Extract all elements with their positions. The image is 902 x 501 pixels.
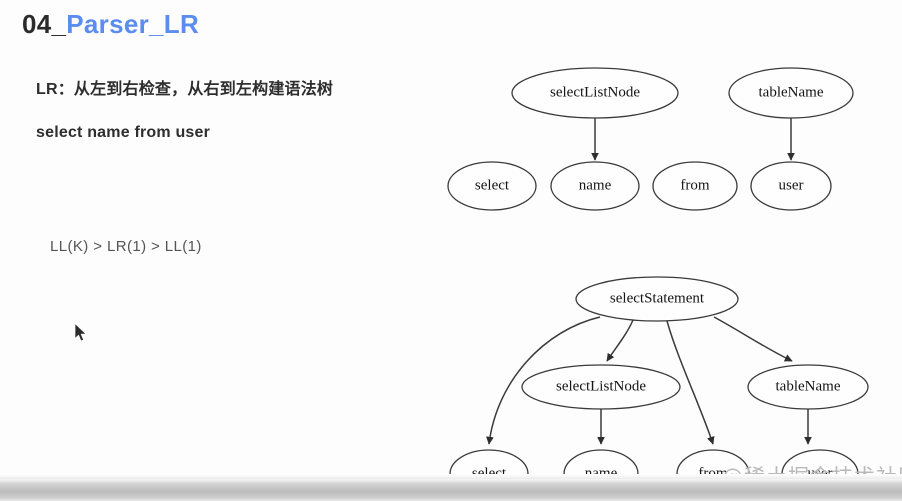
node-label: tableName xyxy=(776,378,841,394)
node-tablename-bottom: tableName xyxy=(748,365,868,409)
node-label: selectListNode xyxy=(556,378,646,394)
edge-selectstatement-tablename xyxy=(714,317,792,361)
mouse-cursor-icon xyxy=(74,323,88,343)
parse-tree-bottom: selectStatement selectListNode tableName… xyxy=(0,0,902,501)
slide-canvas: 04_Parser_LR LR：从左到右检查，从右到左构建语法树 select … xyxy=(0,0,902,501)
edge-selectstatement-selectlistnode xyxy=(607,320,633,361)
node-label: selectStatement xyxy=(610,290,705,306)
node-selectstatement: selectStatement xyxy=(576,277,738,321)
node-selectlistnode-bottom: selectListNode xyxy=(522,365,680,409)
viewport-bottom-bar xyxy=(0,479,902,501)
